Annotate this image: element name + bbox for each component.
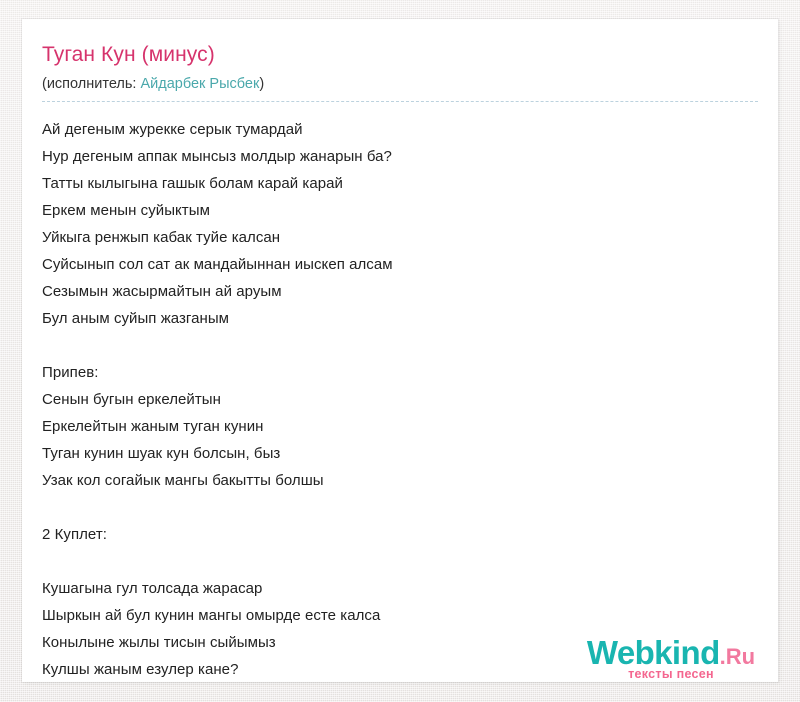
lyric-line: Припев: [42,359,760,386]
page-title: Туган Кун (минус) [42,42,760,68]
performer-suffix-label: ) [259,76,264,92]
lyric-line: Кушагына гул толсада жарасар [42,575,760,602]
lyric-line-blank [42,548,760,575]
lyric-line: Узак кол согайык мангы бакытты болшы [42,467,760,494]
lyric-line: Туган кунин шуак кун болсын, быз [42,440,760,467]
lyric-line: 2 Куплет: [42,521,760,548]
lyric-line: Шыркын ай бул кунин мангы омырде есте ка… [42,602,760,629]
page-content: Туган Кун (минус) (исполнитель: Айдарбек… [42,42,760,683]
site-logo[interactable]: Webkind.Ru тексты песен [576,636,766,682]
lyric-line: Нур дегеным аппак мынсыз молдыр жанарын … [42,143,760,170]
logo-main-text: Webkind [587,634,720,671]
lyric-line: Сенын бугын еркелейтын [42,386,760,413]
logo-tld-text: .Ru [720,644,755,669]
lyric-line-blank [42,494,760,521]
lyric-line: Еркелейтын жаным туган кунин [42,413,760,440]
lyric-line: Сезымын жасырмайтын ай аруым [42,278,760,305]
lyric-line: Уйкыга ренжып кабак туйе калсан [42,224,760,251]
lyric-line: Суйсынып сол сат ак мандайыннан иыскеп а… [42,251,760,278]
performer-link[interactable]: Айдарбек Рысбек [140,76,259,92]
lyrics-body: Ай дегеным журекке серык тумардайНур дег… [42,116,760,683]
lyric-line-blank [42,332,760,359]
performer-line: (исполнитель: Айдарбек Рысбек) [42,75,760,93]
lyric-line: Татты кылыгына гашык болам карай карай [42,170,760,197]
header-divider [42,101,758,102]
lyric-line: Ай дегеным журекке серык тумардай [42,116,760,143]
lyric-line: Еркем менын суйыктым [42,197,760,224]
performer-prefix-label: (исполнитель: [42,76,140,92]
lyrics-page-card: Туган Кун (минус) (исполнитель: Айдарбек… [22,19,778,682]
lyric-line: Бул аным суйып жазганым [42,305,760,332]
